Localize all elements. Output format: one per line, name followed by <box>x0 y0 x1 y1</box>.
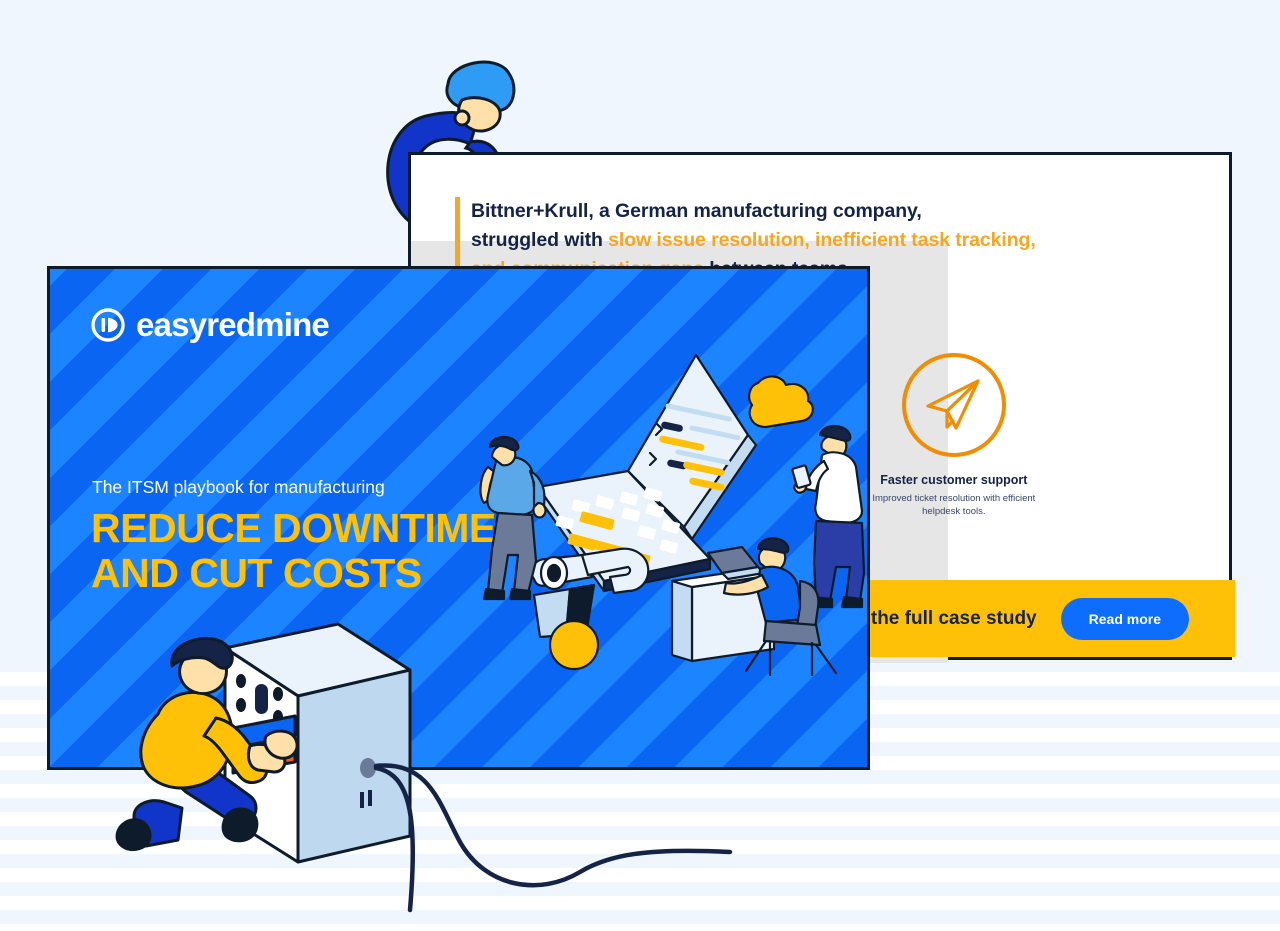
technician-at-control-cabinet-illustration <box>110 610 730 910</box>
easyredmine-logo: easyredmine <box>91 306 329 344</box>
feature-title: Faster customer support <box>839 473 1069 487</box>
intro-line-2-pre: struggled with <box>471 229 608 251</box>
paper-plane-icon <box>902 353 1006 457</box>
feature-faster-support: Faster customer support Improved ticket … <box>839 353 1069 518</box>
easyredmine-logo-icon <box>91 308 125 342</box>
cover-kicker: The ITSM playbook for manufacturing <box>92 477 385 498</box>
promo-graphic: Bittner+Krull, a German manufacturing co… <box>0 0 1280 931</box>
read-more-button[interactable]: Read more <box>1061 598 1189 640</box>
logo-wordmark: easyredmine <box>136 306 329 344</box>
intro-line-2-highlight: slow issue resolution, inefficient task … <box>608 229 1035 251</box>
feature-description: Improved ticket resolution with efficien… <box>839 492 1069 518</box>
cover-title: REDUCE DOWNTIME AND CUT COSTS <box>91 506 496 596</box>
intro-line-1: Bittner+Krull, a German manufacturing co… <box>471 200 922 222</box>
